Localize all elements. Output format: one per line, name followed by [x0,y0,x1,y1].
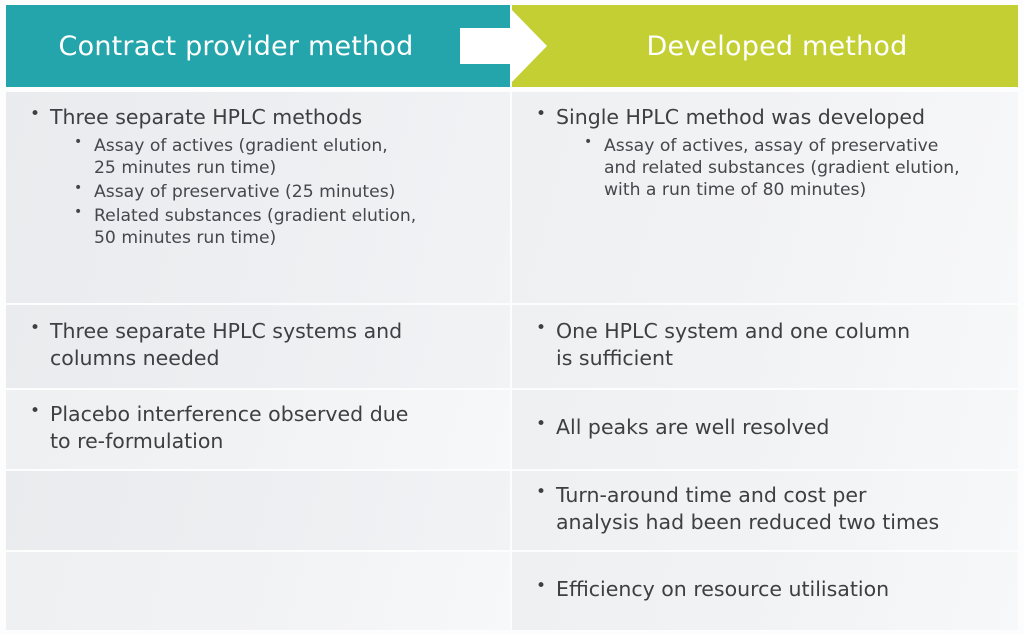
bullet-item: Efficiency on resource utilisation [526,576,1004,603]
column-header-right-label: Developed method [647,33,908,60]
table-cell-left-empty [6,471,510,550]
table-cell-right: One HPLC system and one column is suffic… [512,305,1018,388]
table-cell-right: Single HPLC method was developed Assay o… [512,92,1018,303]
table-row: Efficiency on resource utilisation [6,552,1018,630]
bullet-item: All peaks are well resolved [526,414,1004,441]
table-cell-left: Three separate HPLC systems and columns … [6,305,510,388]
column-header-right: Developed method [512,5,1018,87]
table-cell-left-empty [6,552,510,630]
bullet-list: Single HPLC method was developed Assay o… [526,104,1004,201]
table-row: Placebo interference observed due to re-… [6,390,1018,469]
bullet-list: Three separate HPLC systems and columns … [20,318,496,375]
comparison-slide: Contract provider method Developed metho… [0,0,1024,635]
table-cell-left: Three separate HPLC methods Assay of act… [6,92,510,303]
bullet-list: Placebo interference observed due to re-… [20,401,496,458]
table-cell-right: Efficiency on resource utilisation [512,552,1018,630]
bullet-list: Efficiency on resource utilisation [526,576,1004,607]
column-header-left-label: Contract provider method [59,33,414,60]
sub-bullet-item: Assay of actives (gradient elution, 25 m… [64,135,496,179]
bullet-item: Three separate HPLC methods [20,104,496,131]
sub-bullet-item: Assay of preservative (25 minutes) [64,181,496,203]
table-header-row: Contract provider method Developed metho… [6,5,1018,87]
table-cell-right: All peaks are well resolved [512,390,1018,469]
bullet-item: Turn-around time and cost per analysis h… [526,482,1004,535]
bullet-list: One HPLC system and one column is suffic… [526,318,1004,375]
comparison-table: Three separate HPLC methods Assay of act… [6,92,1018,630]
bullet-item: Three separate HPLC systems and columns … [20,318,496,371]
bullet-item: Single HPLC method was developed [526,104,1004,131]
bullet-item: Placebo interference observed due to re-… [20,401,496,454]
sub-bullet-item: Related substances (gradient elution, 50… [64,205,496,249]
table-cell-right: Turn-around time and cost per analysis h… [512,471,1018,550]
column-header-left: Contract provider method [6,5,510,87]
table-cell-left: Placebo interference observed due to re-… [6,390,510,469]
bullet-list: All peaks are well resolved [526,414,1004,445]
table-row: Three separate HPLC methods Assay of act… [6,92,1018,303]
table-row: Turn-around time and cost per analysis h… [6,471,1018,550]
table-row: Three separate HPLC systems and columns … [6,305,1018,388]
bullet-list: Three separate HPLC methods Assay of act… [20,104,496,249]
bullet-list: Turn-around time and cost per analysis h… [526,482,1004,539]
sub-bullet-item: Assay of actives, assay of preservative … [574,135,1004,201]
bullet-item: One HPLC system and one column is suffic… [526,318,1004,371]
